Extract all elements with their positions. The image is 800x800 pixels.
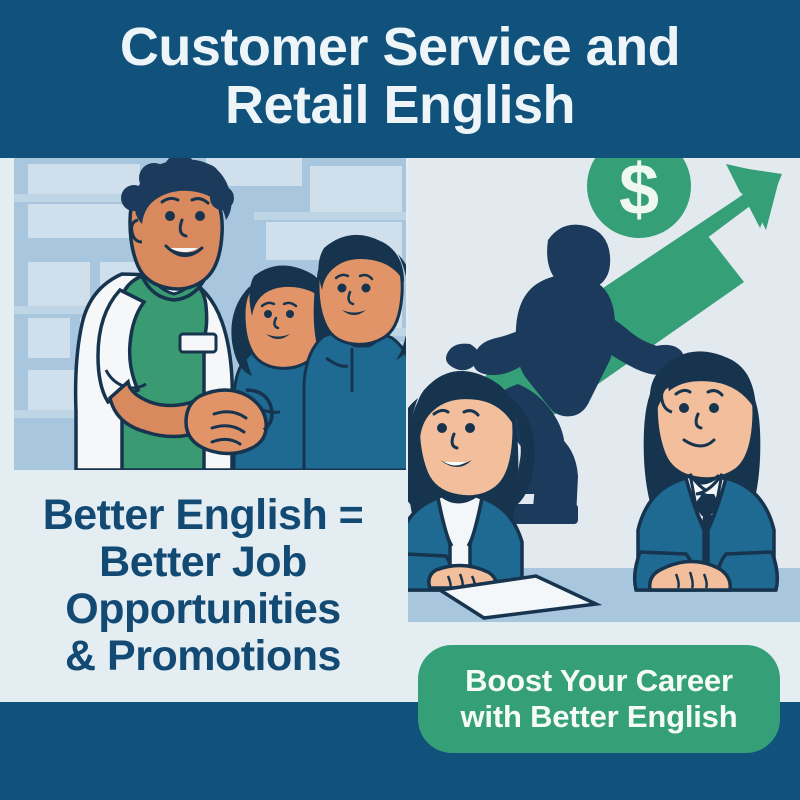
customer-man-figure [304, 235, 406, 470]
woman-eye-left [264, 310, 272, 318]
woman-eye-right [286, 310, 294, 318]
businessman-eye-right [709, 403, 719, 413]
employee-eye-right [195, 211, 205, 221]
poster-root: $ [0, 0, 800, 800]
businesswoman-eye-right [465, 423, 475, 433]
businessman-eye-left [679, 403, 689, 413]
page-title: Customer Service and Retail English [0, 18, 800, 134]
svg-text:$: $ [619, 158, 659, 230]
businesswoman-eye-left [437, 423, 447, 433]
man-eye-left [338, 284, 347, 293]
employee-eye-left [165, 211, 175, 221]
headline-text: Better English = Better Job Opportunitie… [37, 492, 370, 680]
header-band: Customer Service and Retail English [0, 0, 800, 158]
cta-label: Boost Your Career with Better English [461, 663, 738, 735]
man-eye-right [362, 284, 371, 293]
career-scene-svg: $ [408, 158, 800, 622]
cta-button[interactable]: Boost Your Career with Better English [418, 645, 780, 753]
headline-block: Better English = Better Job Opportunitie… [0, 470, 406, 702]
panel-right-career-growth: $ [408, 158, 800, 622]
businesswoman-figure [408, 371, 534, 590]
retail-scene-svg [14, 158, 406, 470]
panel-left-retail-handshake [14, 158, 406, 470]
